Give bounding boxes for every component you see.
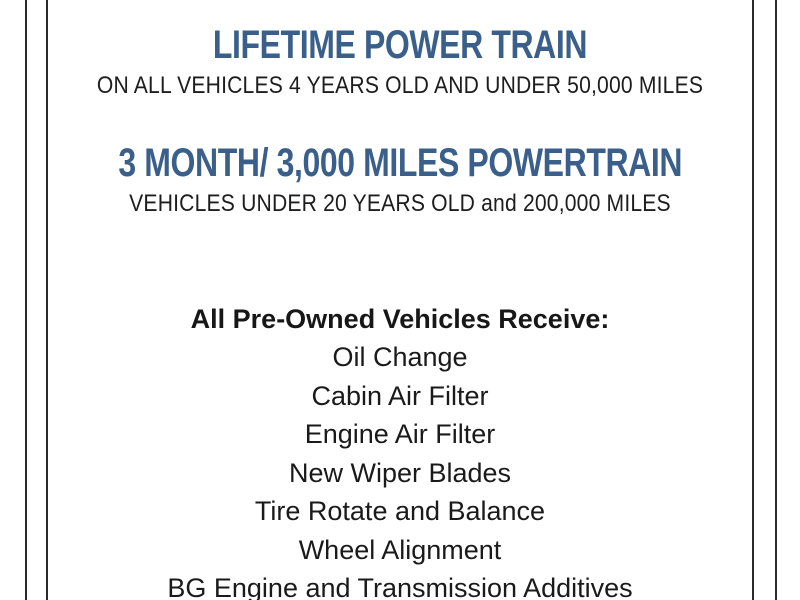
- right-inner-rule: [752, 0, 754, 600]
- list-item: Tire Rotate and Balance: [48, 492, 752, 531]
- warranty-subtitle: VEHICLES UNDER 20 YEARS OLD and 200,000 …: [90, 190, 710, 218]
- warranty-subtitle: ON ALL VEHICLES 4 YEARS OLD AND UNDER 50…: [90, 72, 710, 100]
- right-outer-rule: [775, 0, 777, 600]
- list-item: Wheel Alignment: [48, 531, 752, 570]
- warranty-block-lifetime: LIFETIME POWER TRAIN ON ALL VEHICLES 4 Y…: [48, 22, 752, 100]
- list-item: New Wiper Blades: [48, 454, 752, 493]
- services-section: All Pre-Owned Vehicles Receive: Oil Chan…: [48, 300, 752, 600]
- left-outer-rule: [25, 0, 27, 600]
- list-item: Oil Change: [48, 338, 752, 377]
- warranty-headline: 3 MONTH/ 3,000 MILES POWERTRAIN: [118, 140, 681, 186]
- content-column: LIFETIME POWER TRAIN ON ALL VEHICLES 4 Y…: [48, 0, 752, 600]
- warranty-block-three-month: 3 MONTH/ 3,000 MILES POWERTRAIN VEHICLES…: [48, 140, 752, 218]
- list-item: Engine Air Filter: [48, 415, 752, 454]
- services-heading: All Pre-Owned Vehicles Receive:: [48, 300, 752, 338]
- list-item: BG Engine and Transmission Additives: [48, 569, 752, 600]
- services-list: Oil Change Cabin Air Filter Engine Air F…: [48, 338, 752, 600]
- list-item: Cabin Air Filter: [48, 377, 752, 416]
- flyer-page: LIFETIME POWER TRAIN ON ALL VEHICLES 4 Y…: [0, 0, 800, 600]
- warranty-headline: LIFETIME POWER TRAIN: [118, 22, 681, 68]
